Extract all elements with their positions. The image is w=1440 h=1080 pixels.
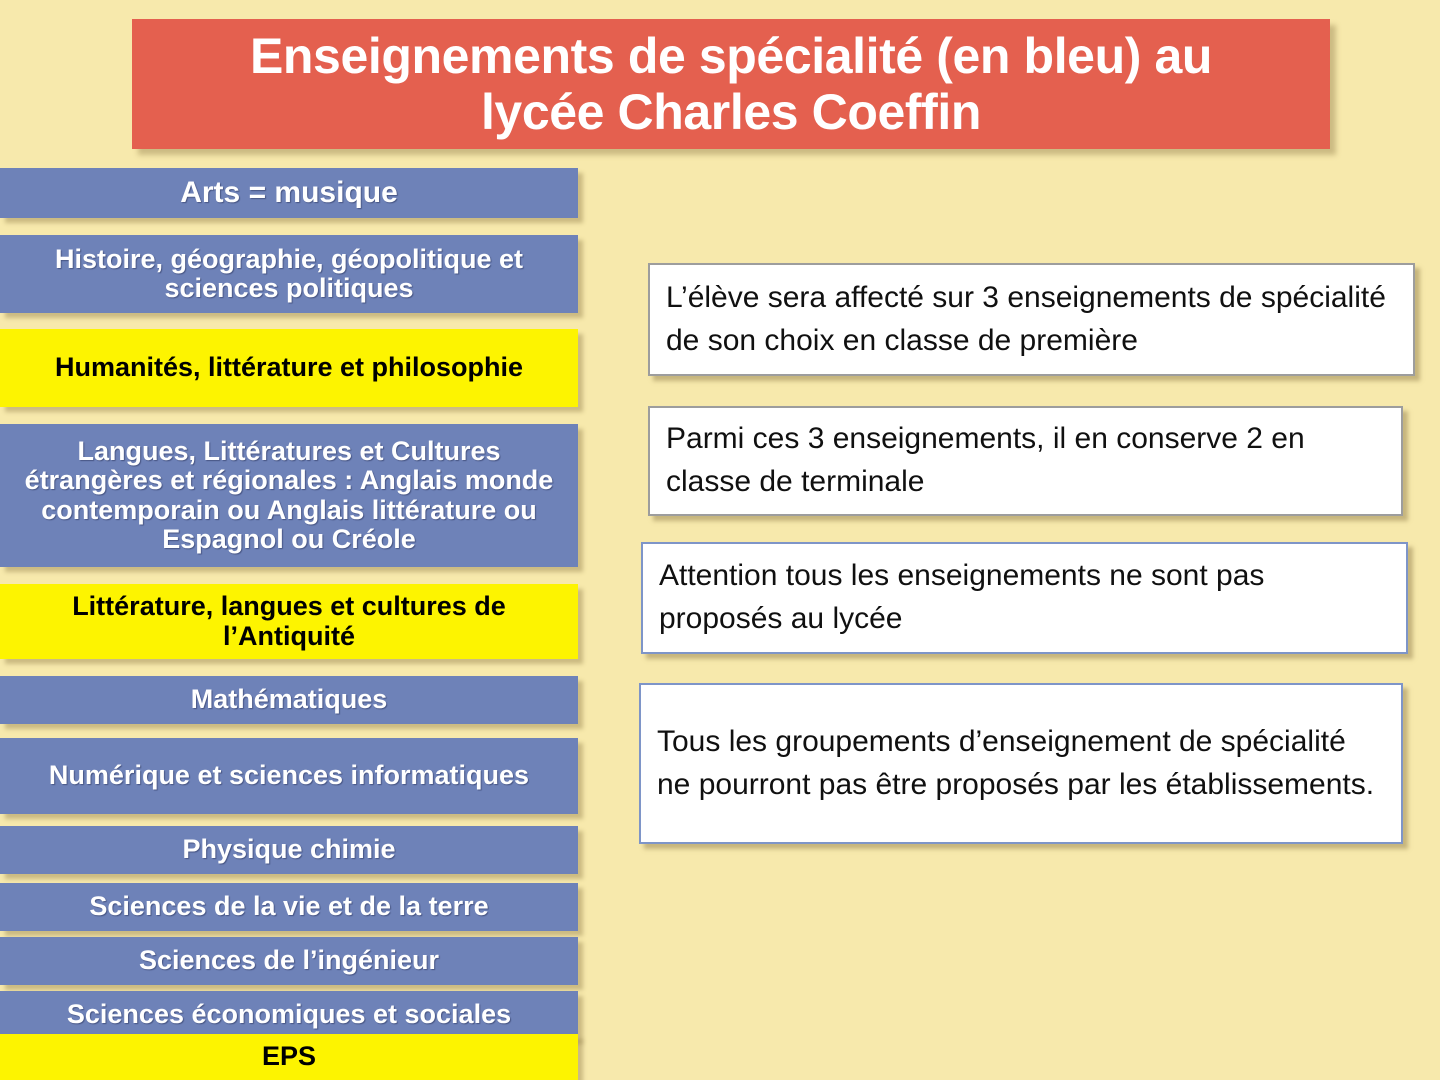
specialty-item-histoire-geo[interactable]: Histoire, géographie, géopolitique et sc… (0, 235, 578, 313)
specialty-item-lca[interactable]: Littérature, langues et cultures de l’An… (0, 584, 578, 659)
specialty-label: Langues, Littératures et Cultures étrang… (8, 437, 570, 554)
specialty-item-llcer[interactable]: Langues, Littératures et Cultures étrang… (0, 424, 578, 567)
specialty-item-arts[interactable]: Arts = musique (0, 168, 578, 218)
note-box-groupements: Tous les groupements d’enseignement de s… (639, 683, 1403, 844)
specialty-label: Numérique et sciences informatiques (8, 761, 570, 790)
specialty-item-nsi[interactable]: Numérique et sciences informatiques (0, 738, 578, 814)
specialty-label: Littérature, langues et cultures de l’An… (8, 592, 570, 650)
slide-canvas: Enseignements de spécialité (en bleu) au… (0, 0, 1440, 1080)
specialty-item-eps[interactable]: EPS (0, 1034, 578, 1080)
specialty-item-sciences-ingenieur[interactable]: Sciences de l’ingénieur (0, 937, 578, 985)
page-title-line-1: Enseignements de spécialité (en bleu) au (250, 28, 1212, 84)
specialty-item-mathematiques[interactable]: Mathématiques (0, 676, 578, 724)
note-text: Parmi ces 3 enseignements, il en conserv… (650, 418, 1401, 503)
note-text: Tous les groupements d’enseignement de s… (641, 721, 1401, 806)
specialty-label: Mathématiques (8, 685, 570, 714)
specialty-item-ses[interactable]: Sciences économiques et sociales (0, 991, 578, 1039)
note-box-affectation: L’élève sera affecté sur 3 enseignements… (648, 263, 1415, 376)
specialty-label: EPS (8, 1042, 570, 1071)
specialty-label: Histoire, géographie, géopolitique et sc… (8, 245, 570, 303)
specialty-label: Humanités, littérature et philosophie (8, 353, 570, 382)
note-box-conservation: Parmi ces 3 enseignements, il en conserv… (648, 406, 1403, 516)
specialty-label: Sciences de la vie et de la terre (8, 892, 570, 921)
specialty-item-humanites[interactable]: Humanités, littérature et philosophie (0, 329, 578, 407)
specialty-list: Arts = musique Histoire, géographie, géo… (0, 166, 600, 1080)
note-text: L’élève sera affecté sur 3 enseignements… (650, 277, 1413, 362)
specialty-label: Sciences de l’ingénieur (8, 946, 570, 975)
specialty-item-svt[interactable]: Sciences de la vie et de la terre (0, 883, 578, 931)
specialty-item-physique-chimie[interactable]: Physique chimie (0, 826, 578, 874)
specialty-label: Arts = musique (8, 177, 570, 209)
note-box-attention: Attention tous les enseignements ne sont… (641, 542, 1408, 654)
specialty-label: Sciences économiques et sociales (8, 1000, 570, 1029)
page-title-line-2: lycée Charles Coeffin (481, 84, 981, 140)
page-title: Enseignements de spécialité (en bleu) au… (146, 28, 1316, 140)
slide-title-banner: Enseignements de spécialité (en bleu) au… (132, 19, 1330, 149)
note-text: Attention tous les enseignements ne sont… (643, 555, 1406, 640)
specialty-label: Physique chimie (8, 835, 570, 864)
